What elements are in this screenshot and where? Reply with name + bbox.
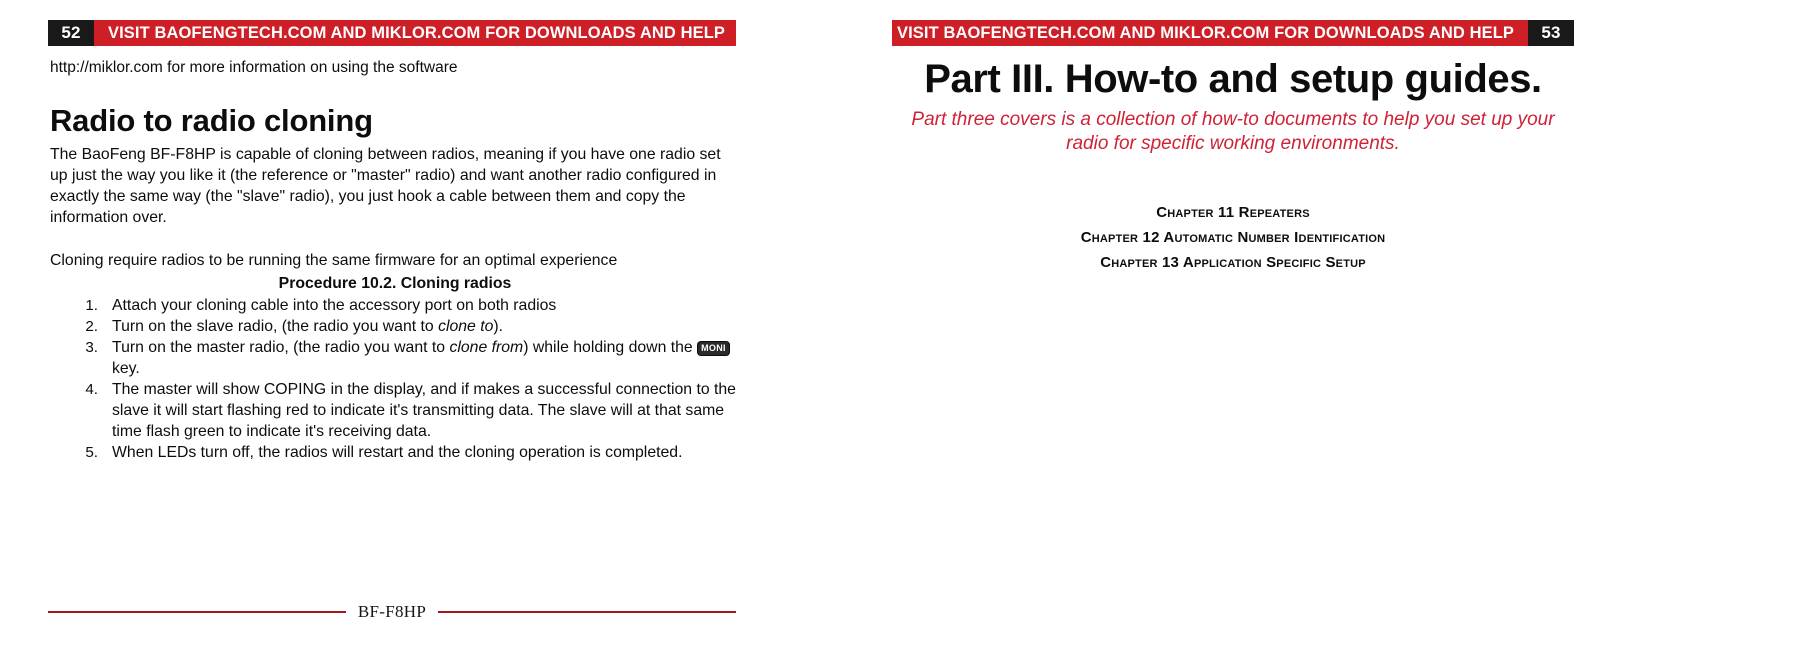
step-text: ). [493,318,503,335]
footer-rule-left [48,611,346,613]
part-title: Part III. How-to and setup guides. [892,56,1574,102]
part-subtitle: Part three covers is a collection of how… [903,108,1563,156]
chapter-entry[interactable]: Chapter 13 Application Specific Setup [892,250,1574,275]
left-page-number: 52 [48,20,94,46]
emphasis-text: clone from [449,339,523,356]
procedure-step-list: Attach your cloning cable into the acces… [50,295,740,463]
step-text: ) while holding down the [523,339,697,356]
procedure-step: Turn on the master radio, (the radio you… [50,337,740,379]
intro-paragraph: The BaoFeng BF-F8HP is capable of clonin… [50,144,740,228]
footer-model-name: BF-F8HP [358,602,426,622]
step-text: When LEDs turn off, the radios will rest… [112,444,682,461]
left-page-footer: BF-F8HP [48,602,736,622]
page-title: Radio to radio cloning [50,104,740,138]
right-page-number: 53 [1528,20,1574,46]
intro-line: http://miklor.com for more information o… [50,58,740,78]
procedure-step: When LEDs turn off, the radios will rest… [50,442,740,463]
book-spread: 52 VISIT BAOFENGTECH.COM AND MIKLOR.COM … [0,0,1814,646]
step-text: Attach your cloning cable into the acces… [112,297,556,314]
right-header-banner-text: VISIT BAOFENGTECH.COM AND MIKLOR.COM FOR… [892,20,1528,46]
left-header-banner-text: VISIT BAOFENGTECH.COM AND MIKLOR.COM FOR… [94,20,736,46]
step-text: key. [112,360,140,377]
emphasis-text: clone to [438,318,493,335]
step-text: Turn on the slave radio, (the radio you … [112,318,438,335]
step-text: Turn on the master radio, (the radio you… [112,339,449,356]
procedure-step: Attach your cloning cable into the acces… [50,295,740,316]
procedure-title: Procedure 10.2. Cloning radios [50,273,740,294]
moni-key-badge: MONI [697,341,730,356]
right-page-running-header: VISIT BAOFENGTECH.COM AND MIKLOR.COM FOR… [892,20,1574,46]
procedure-step: Turn on the slave radio, (the radio you … [50,316,740,337]
chapter-list: Chapter 11 RepeatersChapter 12 Automatic… [892,200,1574,275]
footer-rule-right [438,611,736,613]
chapter-entry[interactable]: Chapter 11 Repeaters [892,200,1574,225]
right-page-content: Part III. How-to and setup guides. Part … [892,56,1574,275]
chapter-entry[interactable]: Chapter 12 Automatic Number Identificati… [892,225,1574,250]
step-text: The master will show COPING in the displ… [112,381,736,440]
firmware-note: Cloning require radios to be running the… [50,250,740,271]
left-page-running-header: 52 VISIT BAOFENGTECH.COM AND MIKLOR.COM … [48,20,736,46]
procedure-step: The master will show COPING in the displ… [50,379,740,442]
left-page: 52 VISIT BAOFENGTECH.COM AND MIKLOR.COM … [0,0,786,646]
page-gutter [786,0,892,646]
left-page-content: http://miklor.com for more information o… [50,58,740,463]
right-page: VISIT BAOFENGTECH.COM AND MIKLOR.COM FOR… [892,0,1814,646]
